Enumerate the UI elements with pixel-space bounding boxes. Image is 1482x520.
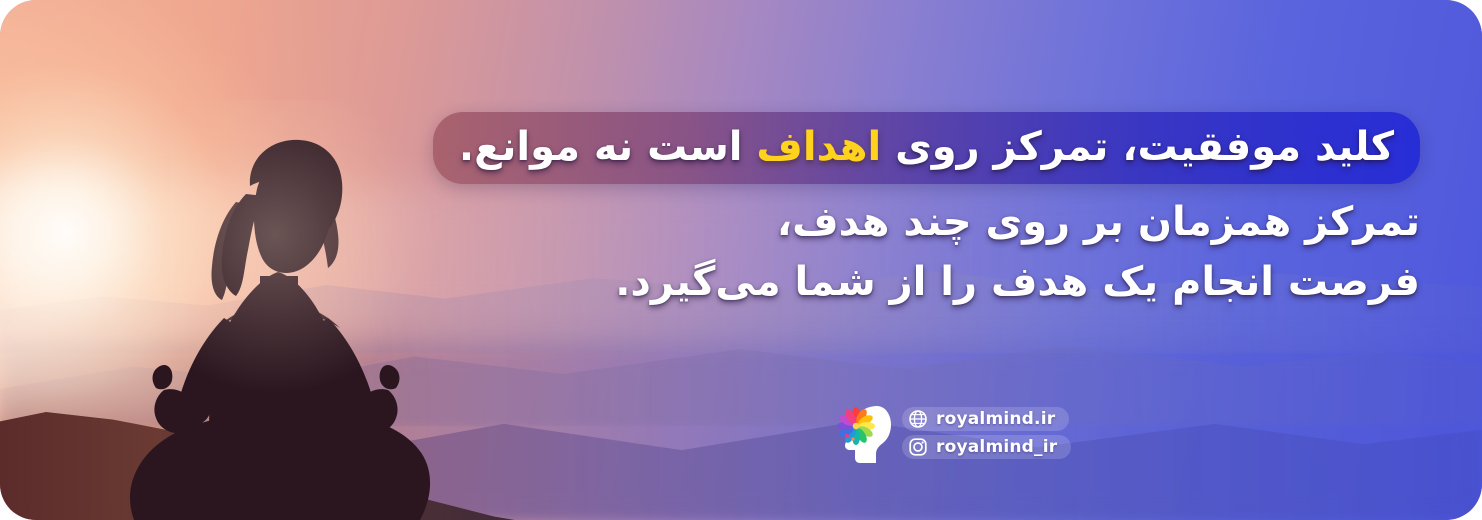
quote-line-2: تمرکز همزمان بر روی چند هدف، bbox=[440, 202, 1420, 242]
quote-line-3: فرصت انجام یک هدف را از شما می‌گیرد. bbox=[440, 262, 1420, 302]
social-handles: royalmind.ir royalmind_ir bbox=[902, 407, 1071, 459]
quote-line-1-part-2: است نه موانع. bbox=[459, 124, 757, 170]
quote-line-1-part-1: کلید موفقیت، تمرکز روی bbox=[881, 124, 1394, 170]
quote-highlight-word: اهداف bbox=[756, 124, 881, 170]
quote-block: کلید موفقیت، تمرکز روی اهداف است نه موان… bbox=[440, 112, 1420, 302]
globe-icon bbox=[908, 409, 928, 429]
meditating-person-silhouette bbox=[60, 90, 480, 520]
motivational-quote-banner: کلید موفقیت، تمرکز روی اهداف است نه موان… bbox=[0, 0, 1482, 520]
website-handle[interactable]: royalmind.ir bbox=[902, 407, 1069, 431]
instagram-handle-text: royalmind_ir bbox=[936, 437, 1057, 457]
instagram-icon bbox=[908, 437, 928, 457]
website-handle-text: royalmind.ir bbox=[936, 409, 1055, 429]
quote-line-1-highlight-band: کلید موفقیت، تمرکز روی اهداف است نه موان… bbox=[433, 112, 1420, 184]
royalmind-head-brain-logo-icon bbox=[836, 402, 892, 464]
instagram-handle[interactable]: royalmind_ir bbox=[902, 435, 1071, 459]
brand-block: royalmind.ir royalmind_ir bbox=[836, 402, 1071, 464]
